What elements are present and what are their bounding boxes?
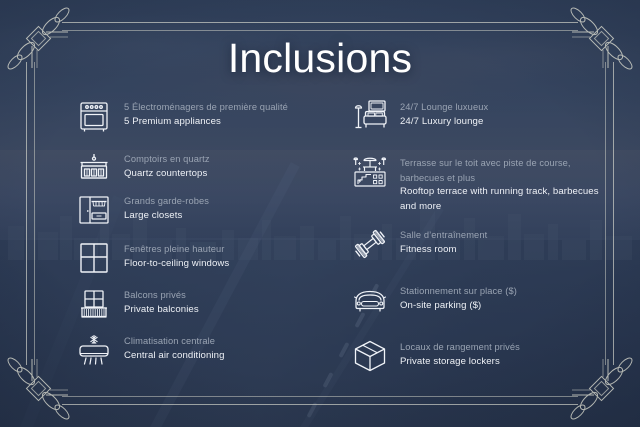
list-item-text: Comptoirs en quartz Quartz countertops	[124, 148, 210, 181]
list-item-label-en: Central air conditioning	[124, 349, 225, 364]
list-item: Stationnement sur place ($) On-site park…	[350, 280, 600, 320]
window-icon	[74, 238, 114, 278]
list-item: Climatisation centrale Central air condi…	[74, 330, 324, 370]
list-item-text: Balcons privés Private balconies	[124, 284, 199, 317]
stove-oven-icon	[74, 96, 114, 136]
dumbbell-fitness-icon	[350, 224, 390, 264]
balcony-icon	[74, 284, 114, 324]
inclusions-slide: Inclusions 5 Électroménagers de premi	[0, 0, 640, 427]
list-item-label-en: Quartz countertops	[124, 167, 210, 182]
list-item: Fenêtres pleine hauteur Floor-to-ceiling…	[74, 238, 324, 278]
air-conditioner-icon	[74, 330, 114, 370]
list-item-label-fr: Balcons privés	[124, 288, 199, 303]
list-item: Grands garde-robes Large closets	[74, 190, 324, 230]
storage-box-icon	[350, 336, 390, 376]
list-item-text: Grands garde-robes Large closets	[124, 190, 209, 223]
list-item: Locaux de rangement privés Private stora…	[350, 336, 600, 376]
list-item-label-fr: Stationnement sur place ($)	[400, 284, 517, 299]
list-item: 24/7 Lounge luxueux 24/7 Luxury lounge	[350, 96, 600, 136]
list-item-label-en: Private storage lockers	[400, 355, 520, 370]
list-item-label-fr: Climatisation centrale	[124, 334, 225, 349]
list-item-text: Salle d’entraînement Fitness room	[400, 224, 487, 257]
list-item-label-fr: Terrasse sur le toit avec piste de cours…	[400, 156, 600, 185]
list-item-label-en: On-site parking ($)	[400, 299, 517, 314]
list-item-label-fr: Locaux de rangement privés	[400, 340, 520, 355]
list-item: Salle d’entraînement Fitness room	[350, 224, 600, 264]
lounge-sofa-lamp-icon	[350, 96, 390, 136]
list-item: Balcons privés Private balconies	[74, 284, 324, 324]
list-item-text: Climatisation centrale Central air condi…	[124, 330, 225, 363]
quartz-countertop-icon	[74, 148, 114, 188]
list-item-label-en: 24/7 Luxury lounge	[400, 115, 488, 130]
list-item-text: Fenêtres pleine hauteur Floor-to-ceiling…	[124, 238, 229, 271]
list-item-label-fr: Comptoirs en quartz	[124, 152, 210, 167]
list-item-label-en: Private balconies	[124, 303, 199, 318]
list-item-label-en: Fitness room	[400, 243, 487, 258]
page-title: Inclusions	[0, 38, 640, 79]
list-item-label-fr: Fenêtres pleine hauteur	[124, 242, 229, 257]
list-item: 5 Électroménagers de première qualité 5 …	[74, 96, 324, 136]
list-item-label-en: Rooftop terrace with running track, barb…	[400, 185, 600, 214]
list-item-text: Locaux de rangement privés Private stora…	[400, 336, 520, 369]
list-item-text: Stationnement sur place ($) On-site park…	[400, 280, 517, 313]
list-item-label-fr: 5 Électroménagers de première qualité	[124, 100, 288, 115]
car-parking-icon	[350, 280, 390, 320]
list-item: Terrasse sur le toit avec piste de cours…	[350, 152, 600, 214]
list-item-label-fr: Grands garde-robes	[124, 194, 209, 209]
left-column: 5 Électroménagers de première qualité 5 …	[74, 96, 324, 376]
list-item-label-fr: 24/7 Lounge luxueux	[400, 100, 488, 115]
list-item-text: 24/7 Lounge luxueux 24/7 Luxury lounge	[400, 96, 488, 129]
list-item-text: Terrasse sur le toit avec piste de cours…	[400, 152, 600, 214]
list-item-text: 5 Électroménagers de première qualité 5 …	[124, 96, 288, 129]
list-item: Comptoirs en quartz Quartz countertops	[74, 148, 324, 188]
right-column: 24/7 Lounge luxueux 24/7 Luxury lounge	[350, 96, 600, 382]
list-item-label-en: 5 Premium appliances	[124, 115, 288, 130]
list-item-label-en: Large closets	[124, 209, 209, 224]
rooftop-terrace-icon	[350, 152, 390, 192]
list-item-label-en: Floor-to-ceiling windows	[124, 257, 229, 272]
list-item-label-fr: Salle d’entraînement	[400, 228, 487, 243]
closet-wardrobe-icon	[74, 190, 114, 230]
